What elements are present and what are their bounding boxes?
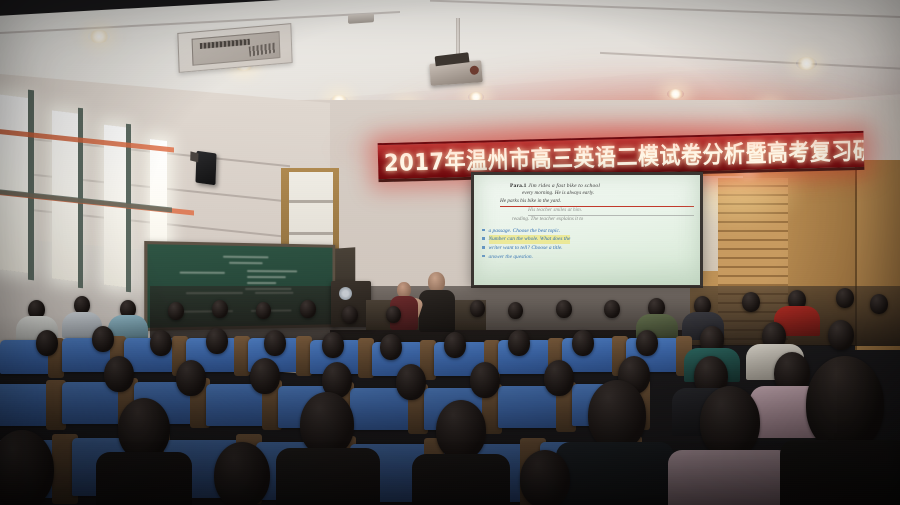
presenter-head — [428, 272, 445, 292]
presenter-body — [419, 290, 455, 332]
ceiling-downlight — [667, 89, 684, 99]
slide-bullet-list: a passage. Choose the best topic. Number… — [482, 227, 694, 262]
bullet-dot-icon — [482, 229, 485, 232]
audience-head — [214, 442, 270, 505]
audience-head — [588, 380, 646, 450]
audience-head — [256, 302, 271, 319]
audience-head — [104, 356, 134, 392]
ceiling-sensor — [348, 13, 374, 24]
audience-head — [380, 334, 402, 360]
ceiling-downlight — [796, 57, 817, 70]
slide-line: reading. The teacher explains it to — [512, 216, 694, 224]
auditorium-seat[interactable] — [0, 384, 52, 426]
audience-head — [436, 400, 486, 460]
audience-head — [806, 356, 884, 452]
audience-head — [572, 330, 594, 356]
audience-head — [212, 300, 228, 318]
door-shelf-line — [289, 232, 333, 235]
audience-head — [828, 320, 854, 350]
ac-vent — [200, 38, 250, 49]
audience-shoulders — [276, 448, 380, 505]
audience-head — [508, 302, 523, 319]
audience-head — [396, 364, 426, 400]
bullet-dot-icon — [482, 237, 485, 240]
audience-head — [36, 330, 58, 356]
audience-head — [176, 360, 206, 396]
audience-head — [470, 300, 485, 317]
slide-heading-rest: Jim rides a fast bike to school — [528, 183, 600, 189]
ac-inner-panel — [192, 31, 280, 66]
audience-head — [300, 300, 316, 318]
slide-bullet-item: writer want to tell? Choose a title. — [482, 244, 694, 253]
audience-shoulders — [556, 442, 674, 505]
slide-bullet-text: answer the question. — [489, 253, 533, 262]
audience-head — [508, 330, 530, 356]
audience-head — [150, 330, 172, 356]
audience-head — [520, 450, 570, 505]
audience-head — [636, 330, 658, 356]
slide-bullet-item: answer the question. — [482, 253, 694, 262]
slide-bullet-item: Number can the whole. What does the — [482, 235, 694, 244]
bullet-dot-icon — [482, 246, 485, 249]
audience-head — [470, 362, 500, 398]
ceiling-downlight — [88, 30, 110, 43]
audience-head — [604, 300, 620, 318]
audience-head — [556, 300, 572, 318]
audience-head — [206, 328, 228, 354]
audience-shoulders — [780, 440, 900, 505]
bullet-dot-icon — [482, 255, 485, 258]
audience-head — [836, 288, 854, 308]
audience-head — [264, 330, 286, 356]
audience-shoulders — [96, 452, 192, 505]
audience-head — [544, 360, 574, 396]
audience-head — [700, 386, 760, 458]
door-shelf-line — [289, 200, 333, 203]
audience-shoulders — [412, 454, 510, 505]
audience-head — [342, 306, 358, 324]
audience-head — [742, 292, 760, 312]
slide-content: Para.1 Jim rides a fast bike to school e… — [482, 183, 694, 279]
projector — [429, 60, 482, 86]
slide-line: His teacher smiles at him. — [528, 207, 694, 216]
slide-heading-label: Para.1 — [510, 183, 527, 189]
slide-bullet-text: Number can the whole. What does the — [489, 235, 571, 244]
audience-head — [870, 294, 888, 314]
slide-bullet-text: writer want to tell? Choose a title. — [489, 244, 563, 253]
window-mullion — [28, 90, 34, 281]
lectern-emblem — [339, 287, 352, 300]
audience-head — [92, 326, 114, 352]
audience-head — [444, 332, 466, 358]
audience-head — [386, 306, 401, 323]
ac-vent — [248, 43, 274, 57]
slide-line: every morning. He is always early. — [522, 190, 694, 198]
audience-head — [322, 332, 344, 358]
slide-line: He parks his bike in the yard. — [500, 198, 694, 207]
projector-lens — [470, 65, 480, 75]
speaker-bracket — [190, 151, 198, 162]
audience-head — [168, 302, 184, 320]
projection-screen: Para.1 Jim rides a fast bike to school e… — [474, 175, 700, 285]
auditorium-photo: 2017年温州市高三英语二模试卷分析暨高考复习研讨会 Para.1 Jim ri… — [0, 0, 900, 505]
presenter-standing — [415, 272, 459, 330]
slide-bullet-text: a passage. Choose the best topic. — [489, 227, 561, 236]
slide-heading: Para.1 Jim rides a fast bike to school — [510, 183, 694, 190]
window — [0, 94, 28, 273]
slide-bullet-item: a passage. Choose the best topic. — [482, 227, 694, 236]
audience-head — [250, 358, 280, 394]
audience-head — [300, 392, 354, 456]
audience-shoulders — [668, 450, 792, 505]
audience-head — [118, 398, 170, 460]
wall-speaker-icon — [195, 151, 216, 186]
